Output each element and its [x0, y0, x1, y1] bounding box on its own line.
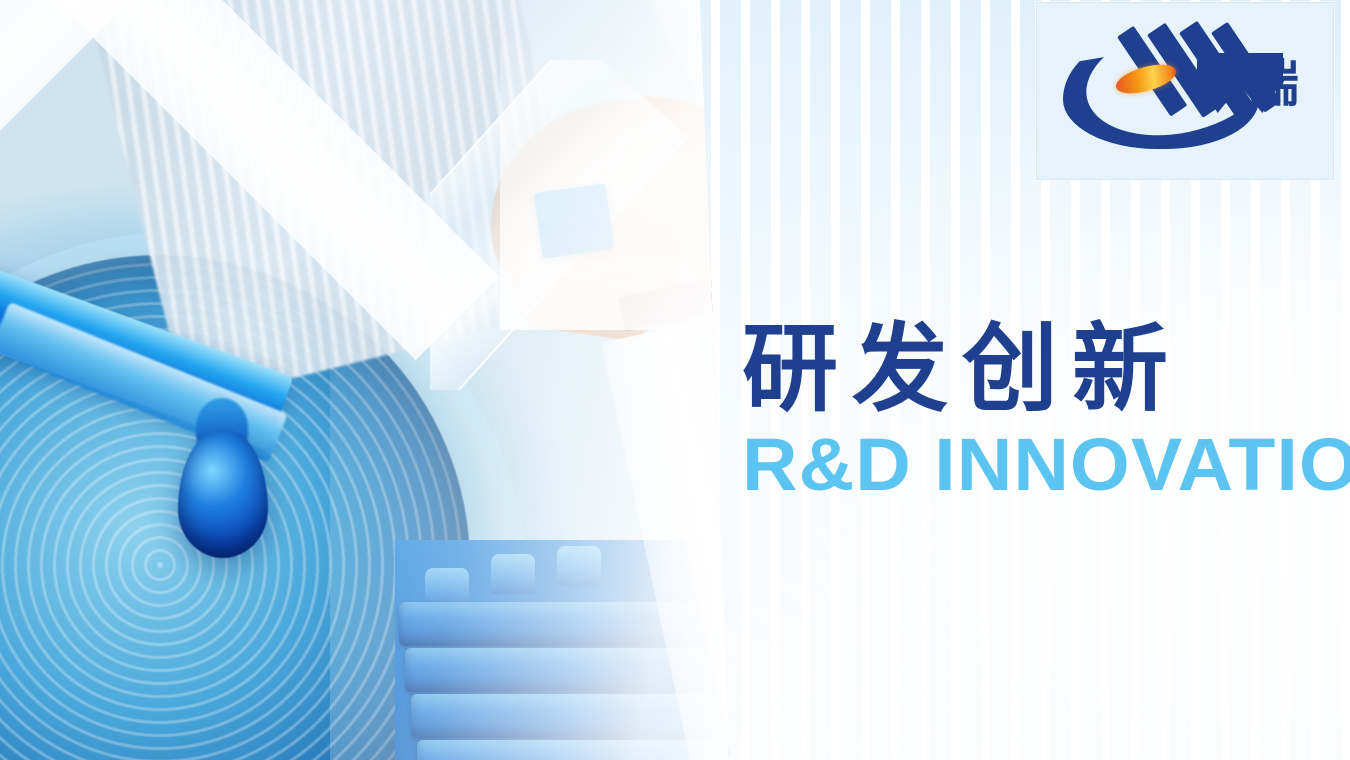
- title-english: R&D INNOVATION: [742, 428, 1350, 502]
- vial-row: [411, 694, 711, 738]
- brand-name-chinese: 恒瑞: [1197, 59, 1301, 109]
- vial-cap: [557, 546, 601, 586]
- vial-cap: [491, 554, 535, 594]
- photo-collage: [0, 0, 760, 760]
- test-tube-blue-label: [534, 183, 614, 258]
- rd-innovation-banner: 研发创新 R&D INNOVATION 恒瑞: [0, 0, 1350, 760]
- vial-row: [399, 602, 699, 646]
- title-chinese: 研发创新: [742, 322, 1342, 418]
- vial-row: [405, 648, 705, 692]
- vial-row: [417, 740, 717, 760]
- brand-logo-panel[interactable]: 恒瑞: [1036, 2, 1334, 180]
- headline-block: 研发创新 R&D INNOVATION: [742, 322, 1342, 502]
